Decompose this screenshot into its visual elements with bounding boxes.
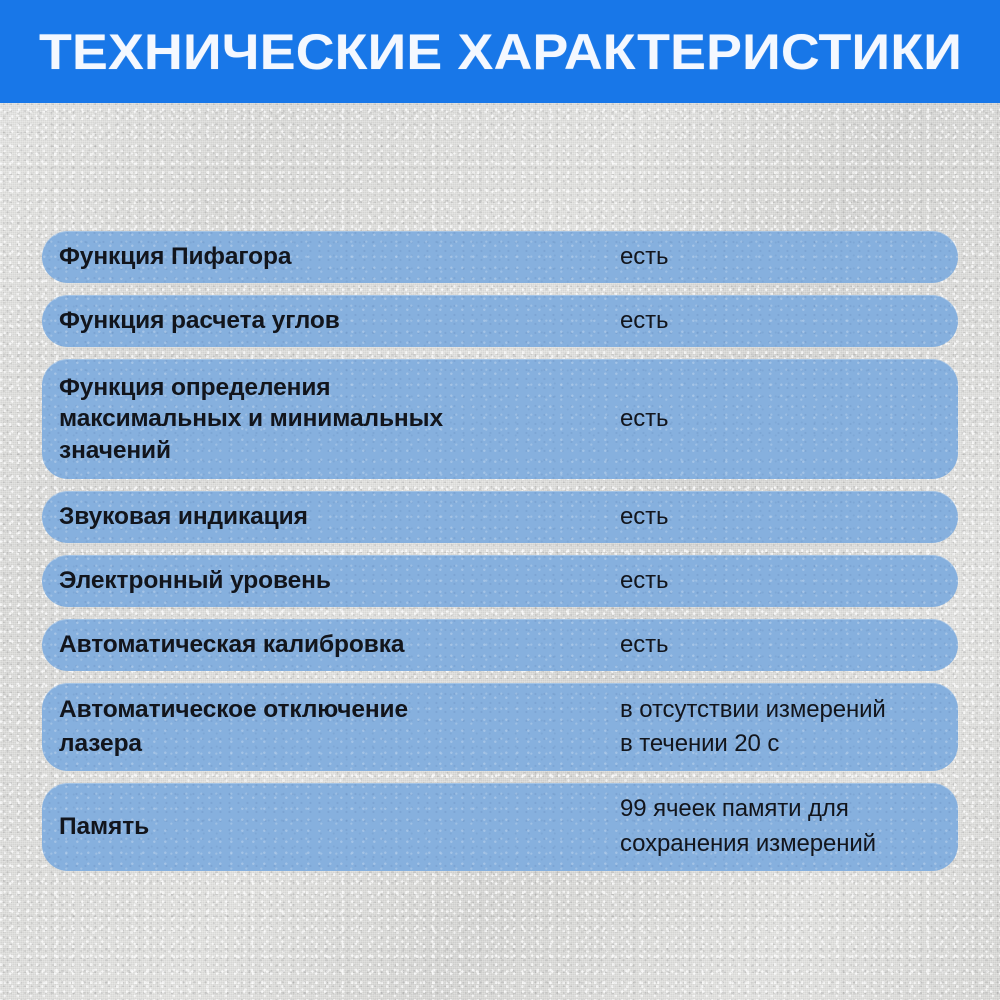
spec-label: Автоматическая калибровка	[42, 629, 620, 661]
table-row: Электронный уровень есть	[42, 555, 958, 607]
spec-value: есть	[620, 501, 958, 533]
spec-value: есть	[620, 565, 958, 597]
spec-label: Функция Пифагора	[42, 241, 620, 273]
table-row: Автоматическая калибровка есть	[42, 619, 958, 671]
page-title: ТЕХНИЧЕСКИЕ ХАРАКТЕРИСТИКИ	[39, 27, 962, 77]
table-row: Автоматическое отключение лазера в отсут…	[42, 683, 958, 771]
spec-value: есть	[620, 241, 958, 273]
spec-label: Звуковая индикация	[42, 501, 620, 533]
spec-value: есть	[620, 629, 958, 661]
spec-label: Электронный уровень	[42, 565, 620, 597]
spec-label: Функция определения максимальных и миним…	[42, 372, 620, 466]
spec-label: Автоматическое отключение лазера	[42, 693, 620, 762]
header-band: ТЕХНИЧЕСКИЕ ХАРАКТЕРИСТИКИ	[0, 0, 1000, 103]
table-row: Память 99 ячеек памяти для сохранения из…	[42, 783, 958, 871]
spec-value: есть	[620, 305, 958, 337]
spec-label: Память	[42, 811, 620, 843]
table-row: Звуковая индикация есть	[42, 491, 958, 543]
table-row: Функция Пифагора есть	[42, 231, 958, 283]
spec-value: есть	[620, 403, 958, 435]
specifications-table: Функция Пифагора есть Функция расчета уг…	[42, 231, 958, 883]
table-row: Функция расчета углов есть	[42, 295, 958, 347]
spec-value: в отсутствии измерений в течении 20 с	[620, 693, 958, 760]
table-row: Функция определения максимальных и миним…	[42, 359, 958, 479]
spec-value: 99 ячеек памяти для сохранения измерений	[620, 792, 958, 862]
spec-label: Функция расчета углов	[42, 305, 620, 337]
